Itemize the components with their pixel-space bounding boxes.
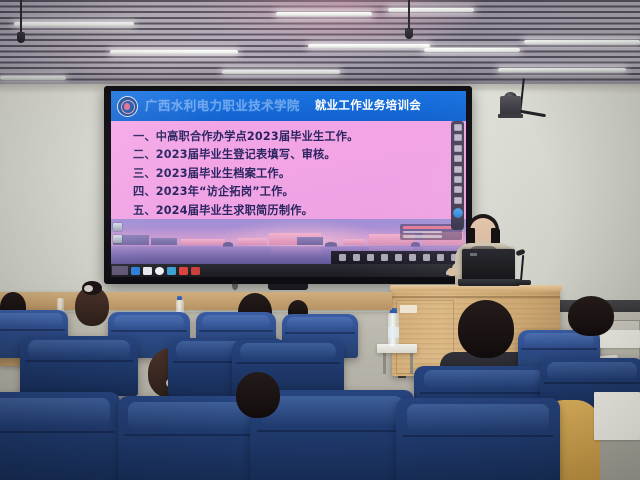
- keyboard-icon[interactable]: [454, 197, 462, 204]
- auditorium-seat: [0, 392, 120, 480]
- paper-notebook: [594, 392, 640, 440]
- display-stand: [268, 284, 308, 290]
- wallpaper-toolbar[interactable]: [331, 251, 466, 264]
- taskbar[interactable]: [111, 264, 466, 277]
- undo-icon[interactable]: [423, 254, 430, 261]
- slide-bullet: 三、2023届毕业生档案工作。: [133, 165, 466, 183]
- slide-bullet: 四、2023年“访企拓岗”工作。: [133, 183, 466, 201]
- podium-label: [400, 305, 417, 313]
- recorder-icon[interactable]: [179, 267, 188, 275]
- apps-icon[interactable]: [454, 186, 462, 193]
- ptz-camera: [500, 96, 521, 115]
- browser-icon[interactable]: [143, 267, 152, 275]
- laptop-logo: [470, 253, 477, 256]
- presenter-hand: [447, 268, 457, 276]
- slide-header: 广西水利电力职业技术学院 就业工作业务培训会: [111, 91, 466, 121]
- presentation-display: 广西水利电力职业技术学院 就业工作业务培训会 一、中高职合作办学点2023届毕业…: [104, 86, 472, 284]
- back-icon[interactable]: [339, 254, 346, 261]
- widget-line: [403, 226, 453, 229]
- media-icon[interactable]: [155, 267, 164, 275]
- explorer-icon[interactable]: [131, 267, 140, 275]
- start-icon[interactable]: [112, 266, 128, 275]
- slide-bullet: 二、2023届毕业生登记表填写、审核。: [133, 146, 466, 164]
- wallpaper-building: [181, 239, 225, 245]
- app-icon[interactable]: [191, 267, 200, 275]
- bottle-label: [388, 327, 399, 338]
- select-icon[interactable]: [454, 166, 462, 173]
- school-emblem-icon: [117, 96, 138, 117]
- slide-bullet: 一、中高职合作办学点2023届毕业生工作。: [133, 128, 466, 146]
- grid-icon[interactable]: [454, 176, 462, 183]
- pen-icon[interactable]: [367, 254, 374, 261]
- wallpaper-building: [297, 237, 323, 245]
- side-table-leg: [410, 352, 413, 374]
- ceiling-light-strip: [14, 22, 134, 26]
- laptop-keyboard[interactable]: [458, 279, 520, 286]
- auditorium-seat: [20, 336, 138, 396]
- attendee-head: [458, 300, 514, 358]
- ceiling-light-strip: [524, 40, 640, 44]
- hair-accessory: [84, 285, 93, 292]
- ceiling-pendant: [408, 0, 410, 30]
- attendee-head: [568, 296, 614, 336]
- wallpaper-building: [343, 239, 365, 245]
- ceiling-light-strip: [110, 50, 238, 54]
- widget-line: [403, 235, 442, 238]
- slide-body: 一、中高职合作办学点2023届毕业生工作。 二、2023届毕业生登记表填写、审核…: [111, 121, 466, 219]
- annotation-toolbar[interactable]: [451, 121, 464, 230]
- mail-icon[interactable]: [167, 267, 176, 275]
- highlighter-icon[interactable]: [381, 254, 388, 261]
- shapes-icon[interactable]: [454, 155, 462, 162]
- desktop-icon-recycle-bin[interactable]: [113, 235, 122, 243]
- slide-bullet: 五、2024届毕业生求职简历制作。: [133, 202, 466, 220]
- shape-icon[interactable]: [437, 254, 444, 261]
- lecture-hall-photo: 广西水利电力职业技术学院 就业工作业务培训会 一、中高职合作办学点2023届毕业…: [0, 0, 640, 480]
- ceiling-pendant: [20, 0, 22, 34]
- ceiling-light-strip: [424, 48, 520, 52]
- cursor-icon[interactable]: [353, 254, 360, 261]
- screen-surface: 广西水利电力职业技术学院 就业工作业务培训会 一、中高职合作办学点2023届毕业…: [111, 91, 466, 277]
- widget-line: [403, 231, 442, 234]
- meeting-title: 就业工作业务培训会: [315, 100, 421, 112]
- assistant-icon[interactable]: [453, 208, 463, 218]
- institution-name: 广西水利电力职业技术学院: [145, 100, 300, 113]
- ceiling-light-strip: [308, 44, 430, 48]
- camera-mount: [498, 114, 523, 118]
- eraser-icon[interactable]: [395, 254, 402, 261]
- desktop-icon-computer[interactable]: [113, 223, 122, 231]
- attendee-head: [236, 372, 280, 418]
- paper-document: [600, 330, 640, 348]
- screenshot-icon[interactable]: [409, 254, 416, 261]
- eraser-icon[interactable]: [454, 145, 462, 152]
- microphone-base: [515, 280, 531, 285]
- ceiling-light-strip: [388, 8, 474, 12]
- pen-icon[interactable]: [454, 134, 462, 141]
- pointer-icon[interactable]: [454, 124, 462, 131]
- ceiling-light-strip: [276, 12, 372, 16]
- wallpaper-building: [237, 238, 267, 245]
- auditorium-seat: [396, 398, 560, 480]
- attendee-head: [232, 280, 238, 290]
- podium-seam: [392, 296, 560, 298]
- bottle-cap: [177, 296, 182, 300]
- side-table-leg: [383, 352, 386, 374]
- wallpaper-building: [151, 238, 177, 245]
